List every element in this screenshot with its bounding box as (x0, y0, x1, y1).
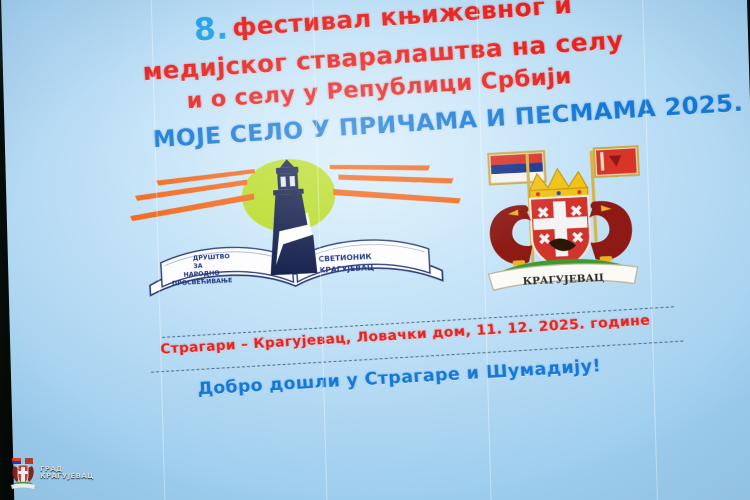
sun-ray-right-3 (330, 159, 431, 176)
lighthouse-book-svg: ДРУШТВО ЗА НАРОДНО ПРОСВЕЋИВАЊЕ СВЕТИОНИ… (125, 145, 468, 304)
grad-kragujevac-watermark: ГРАД КРАГУЈЕВАЦ (10, 454, 106, 492)
watermark-text: ГРАД КРАГУЈЕВАЦ (40, 466, 94, 480)
festival-ordinal: 8. (193, 10, 230, 48)
presentation-slide: 8.фестивал књижевног и медијског стварал… (1, 0, 750, 500)
sun-ray-right-2 (333, 182, 461, 210)
lighthouse-book-logo: ДРУШТВО ЗА НАРОДНО ПРОСВЕЋИВАЊЕ СВЕТИОНИ… (125, 145, 468, 304)
footer-line-welcome: Добро дошли у Страгаре и Шумадију! (197, 356, 602, 400)
projection-screen-wrapper: 8.фестивал књижевног и медијског стварал… (0, 0, 750, 500)
kragujevac-coat-of-arms: КРАГУЈЕВАЦ (463, 139, 658, 301)
book-right-line-2: КРАГУЈЕВАЦ (319, 263, 374, 275)
banner-text: КРАГУЈЕВАЦ (523, 273, 605, 288)
projection-screen: 8.фестивал књижевног и медијског стварал… (1, 0, 750, 500)
book-left-line-2: ЗА (193, 263, 203, 271)
coat-of-arms-svg: КРАГУЈЕВАЦ (463, 139, 658, 301)
watermark-coat-of-arms-icon (10, 456, 36, 490)
sun-ray-right-1 (338, 168, 453, 189)
photo-scene: 8.фестивал књижевног и медијског стварал… (0, 0, 750, 500)
banner: КРАГУЈЕВАЦ (488, 261, 638, 291)
watermark-line-2: КРАГУЈЕВАЦ (40, 473, 94, 480)
footer-line-venue-date: Страгари – Крагујевац, Ловачки дом, 11. … (160, 312, 651, 357)
city-flag (594, 146, 639, 177)
